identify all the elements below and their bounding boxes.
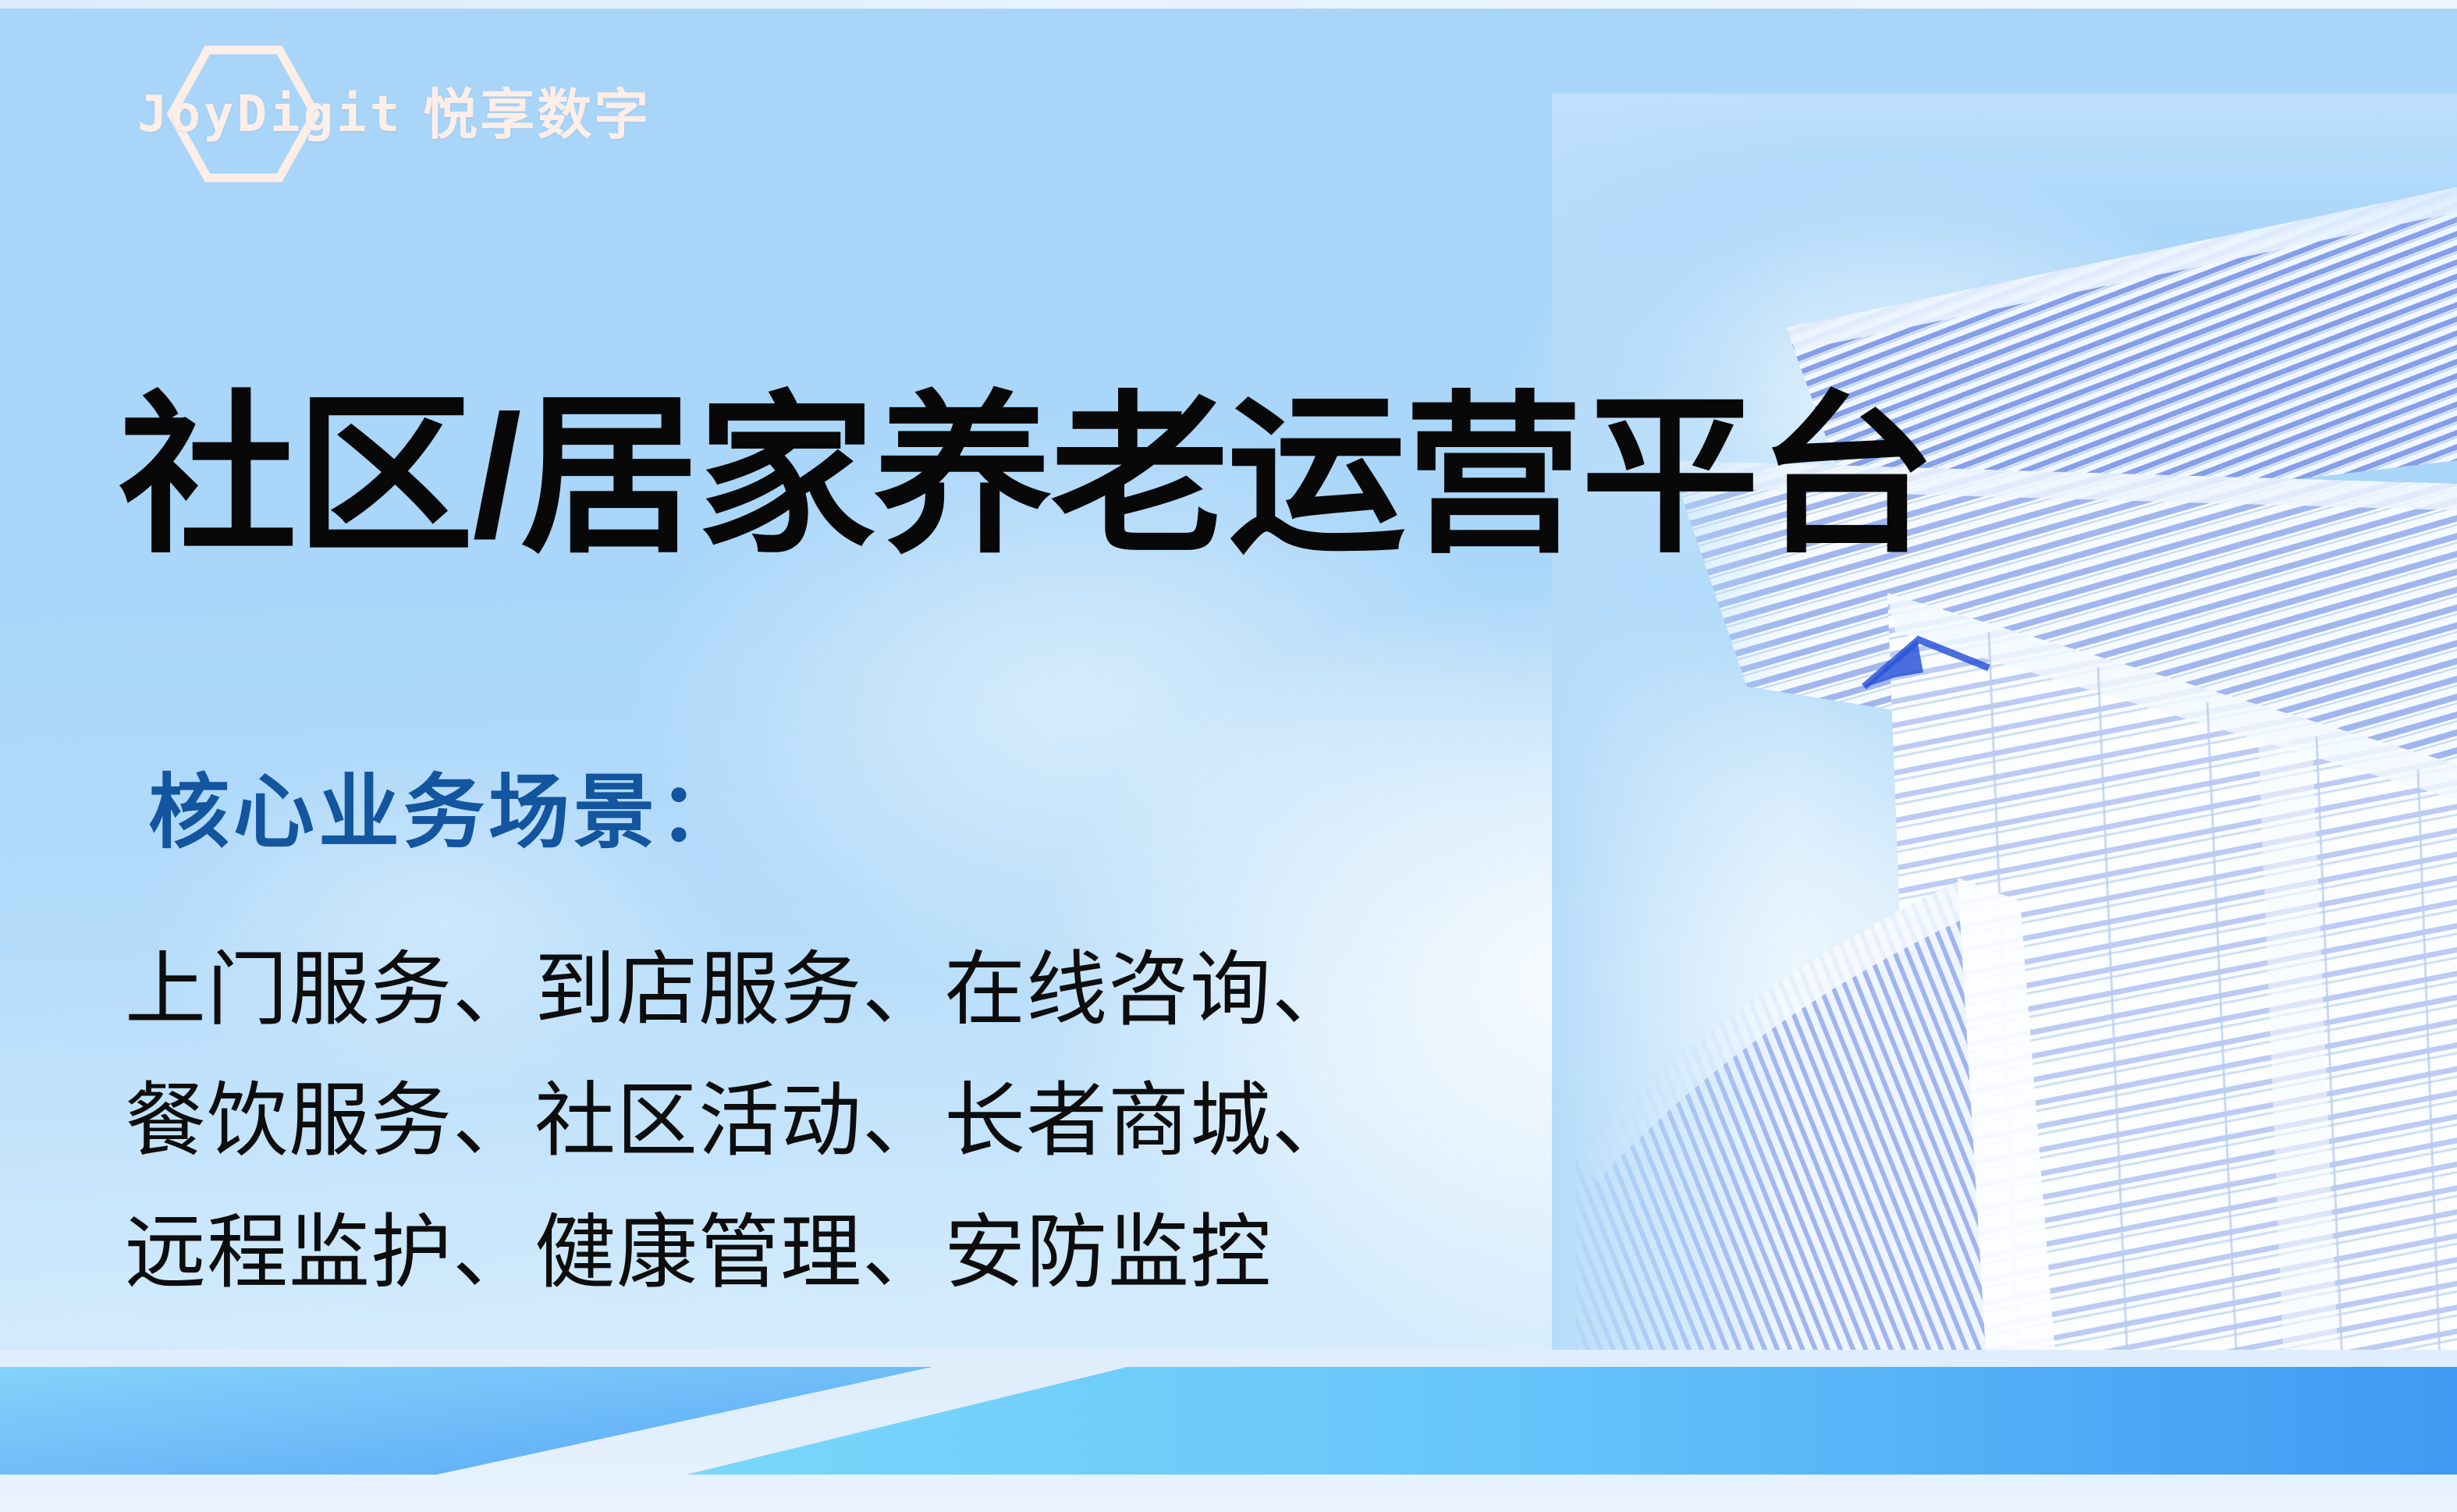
list-item: 远程监护、健康管理、安防监控 [125, 1187, 1354, 1319]
core-scenarios-label: 核心业务场景： [148, 772, 744, 854]
list-item: 餐饮服务、社区活动、长者商城、 [125, 1056, 1354, 1187]
brand-logo: JoyDigit 悦享数字 [137, 72, 651, 158]
logo-wordmark: JoyDigit [137, 90, 403, 140]
core-scenarios-list: 上门服务、到店服务、在线咨询、 餐饮服务、社区活动、长者商城、 远程监护、健康管… [125, 925, 1354, 1319]
top-edge-strip [0, 0, 2457, 9]
slide-root: JoyDigit 悦享数字 社区/居家养老运营平台 核心业务场景： 上门服务、到… [0, 0, 2457, 1512]
list-item: 上门服务、到店服务、在线咨询、 [125, 925, 1354, 1056]
building-photo [1552, 94, 2457, 1404]
bottom-decor-banner [0, 1350, 2457, 1512]
logo-chinese-name: 悦享数字 [423, 87, 651, 142]
page-title: 社区/居家养老运营平台 [119, 380, 1934, 574]
